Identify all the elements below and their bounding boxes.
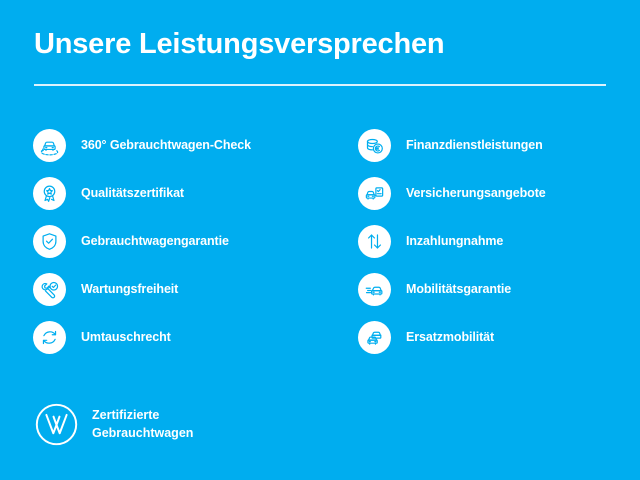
- brand-footer-line1: Zertifizierte: [92, 408, 159, 422]
- brand-footer: Zertifizierte Gebrauchtwagen: [34, 402, 193, 447]
- wrench-check-icon: [33, 273, 66, 306]
- list-item-label: 360° Gebrauchtwagen-Check: [81, 138, 251, 152]
- car-motion-icon: [358, 273, 391, 306]
- list-item-label: Qualitätszertifikat: [81, 186, 184, 200]
- list-item-label: Mobilitätsgarantie: [406, 282, 511, 296]
- list-item[interactable]: Finanzdienstleistungen: [358, 121, 628, 169]
- two-cars-icon: [358, 321, 391, 354]
- car-360-check-icon: [33, 129, 66, 162]
- list-item[interactable]: Versicherungsangebote: [358, 169, 628, 217]
- list-item[interactable]: Mobilitätsgarantie: [358, 265, 628, 313]
- list-item[interactable]: Ersatzmobilität: [358, 313, 628, 361]
- list-item-label: Inzahlungnahme: [406, 234, 503, 248]
- list-item[interactable]: Inzahlungnahme: [358, 217, 628, 265]
- list-item-label: Wartungsfreiheit: [81, 282, 178, 296]
- coins-euro-icon: [358, 129, 391, 162]
- list-item[interactable]: Qualitätszertifikat: [33, 169, 333, 217]
- list-item[interactable]: Gebrauchtwagengarantie: [33, 217, 333, 265]
- list-item[interactable]: 360° Gebrauchtwagen-Check: [33, 121, 333, 169]
- list-item-label: Gebrauchtwagengarantie: [81, 234, 229, 248]
- list-item-label: Finanzdienstleistungen: [406, 138, 543, 152]
- slide-header: Unsere Leistungsversprechen: [34, 28, 606, 61]
- car-checklist-icon: [358, 177, 391, 210]
- arrows-up-down-icon: [358, 225, 391, 258]
- shield-check-icon: [33, 225, 66, 258]
- list-item[interactable]: Wartungsfreiheit: [33, 265, 333, 313]
- promise-slide: Unsere Leistungsversprechen 360° Gebrauc…: [0, 0, 640, 480]
- list-item[interactable]: Umtauschrecht: [33, 313, 333, 361]
- list-item-label: Ersatzmobilität: [406, 330, 494, 344]
- header-divider: [34, 84, 606, 86]
- award-rosette-icon: [33, 177, 66, 210]
- vw-logo-icon: [34, 402, 79, 447]
- brand-footer-line2: Gebrauchtwagen: [92, 426, 193, 440]
- brand-footer-text: Zertifizierte Gebrauchtwagen: [92, 407, 193, 442]
- benefits-right-column: Finanzdienstleistungen Versicherungsange…: [358, 121, 628, 361]
- page-title: Unsere Leistungsversprechen: [34, 28, 606, 61]
- list-item-label: Umtauschrecht: [81, 330, 171, 344]
- list-item-label: Versicherungsangebote: [406, 186, 546, 200]
- benefits-left-column: 360° Gebrauchtwagen-Check Qualitätszerti…: [33, 121, 333, 361]
- exchange-arrows-icon: [33, 321, 66, 354]
